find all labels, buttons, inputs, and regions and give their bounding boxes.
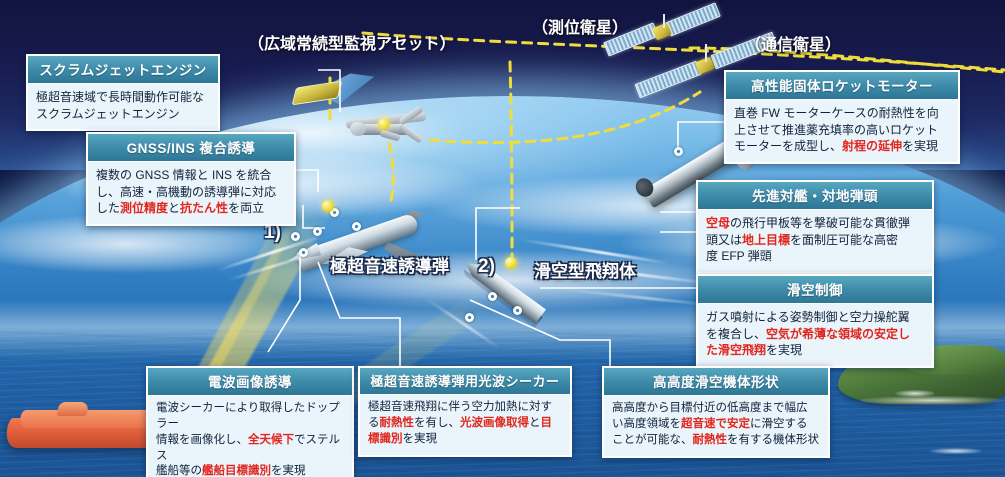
highlighted-text: 標識別	[368, 433, 403, 445]
body-text: 極超音速飛翔に伴う空力加熱に対す	[368, 401, 552, 413]
body-text: を両立	[228, 201, 264, 215]
connector-node	[513, 306, 522, 315]
highlighted-text: 抗たん性	[180, 201, 228, 215]
body-text: に滑空する	[750, 418, 808, 430]
connector-node	[291, 232, 300, 241]
card-body-line: 情報を画像化し、全天候下でステルス	[156, 433, 344, 465]
highlighted-text: 耐熱性	[693, 434, 728, 446]
body-text: の飛行甲板等を撃破可能な貫徹弾	[730, 216, 910, 230]
highlighted-text: 耐熱性	[380, 417, 415, 429]
body-text: 極超音速域で長時間動作可能な	[36, 90, 204, 104]
body-text: を有する機体形状	[727, 434, 819, 446]
body-text: 上させて推進薬充填率の高いロケット	[734, 123, 938, 137]
card-body-line: モーターを成型し、射程の延伸を実現	[734, 138, 950, 155]
card-body-line: 高高度から目標付近の低高度まで幅広	[612, 401, 820, 417]
card-body: 極超音速飛翔に伴う空力加熱に対する耐熱性を有し、光波画像取得と目標識別を実現	[360, 395, 570, 455]
card-body-line: ことが可能な、耐熱性を有する機体形状	[612, 433, 820, 449]
connector-node	[488, 292, 497, 301]
card-title: GNSS/INS 複合誘導	[88, 134, 294, 162]
card-body-line: 艦船等の艦船目標識別を実現	[156, 464, 344, 477]
highlighted-text: 地上目標	[742, 233, 790, 247]
label-nav-satellite: （測位衛星）	[532, 14, 628, 38]
island-surf	[860, 396, 1005, 405]
card-body: 空母の飛行甲板等を撃破可能な貫徹弾頭又は地上目標を面制圧可能な高密度 EFP 弾…	[698, 210, 932, 272]
card-body-line: した測位精度と抗たん性を両立	[96, 200, 286, 217]
highlighted-text: 空母	[706, 216, 730, 230]
body-text: を有し、	[414, 417, 460, 429]
connector-node	[674, 147, 683, 156]
body-text: と	[168, 201, 180, 215]
body-text: を実現	[403, 433, 438, 445]
card-body: 複数の GNSS 情報と INS を統合し、高速・高機動の誘導弾に対応した測位精…	[88, 162, 294, 224]
highlighted-text: 目	[541, 417, 553, 429]
body-text: モーターを成型し、	[734, 139, 842, 153]
callout-card-optical-seeker[interactable]: 極超音速誘導弾用光波シーカー 極超音速飛翔に伴う空力加熱に対する耐熱性を有し、光…	[358, 366, 572, 457]
highlighted-text: 全天候下	[248, 434, 294, 446]
callout-card-solid-rocket-motor[interactable]: 高性能固体ロケットモーター 直巻 FW モーターケースの耐熱性を向上させて推進薬…	[724, 70, 960, 164]
label-glide-vehicle: 滑空型飛翔体	[534, 257, 636, 282]
datalink-node	[378, 118, 390, 130]
card-body-line: 空母の飛行甲板等を撃破可能な貫徹弾	[706, 215, 924, 232]
highlighted-text: 空気が希薄な領域の安定し	[766, 327, 910, 341]
body-text: ことが可能な、	[612, 434, 693, 446]
card-body-line: 極超音速域で長時間動作可能な	[36, 89, 210, 106]
body-text: した	[96, 201, 120, 215]
object-number-2: 2)	[478, 256, 495, 278]
body-text: を実現	[271, 465, 306, 477]
callout-card-glide-control[interactable]: 滑空制御 ガス噴射による姿勢制御と空力操舵翼を複合し、空気が希薄な領域の安定した…	[696, 274, 934, 368]
datalink-node	[322, 200, 334, 212]
body-text: い高度領域を	[612, 418, 681, 430]
callout-card-scramjet-engine[interactable]: スクラムジェットエンジン 極超音速域で長時間動作可能なスクラムジェットエンジン	[26, 54, 220, 131]
connector-node	[352, 222, 361, 231]
card-body: 直巻 FW モーターケースの耐熱性を向上させて推進薬充填率の高いロケットモーター…	[726, 100, 958, 162]
body-text: ガス噴射による姿勢制御と空力操舵翼	[706, 310, 910, 324]
highlighted-text: 射程の延伸	[842, 139, 902, 153]
body-text: 情報を画像化し、	[156, 434, 248, 446]
highlighted-text: 超音速で安定	[681, 418, 750, 430]
card-title: 電波画像誘導	[148, 368, 352, 396]
body-text: 複数の GNSS 情報と INS を統合	[96, 168, 271, 182]
body-text: を複合し、	[706, 327, 766, 341]
connector-node	[299, 248, 308, 257]
body-text: し、高速・高機動の誘導弾に対応	[96, 185, 276, 199]
body-text: を面制圧可能な高密	[790, 233, 898, 247]
card-body-line: を複合し、空気が希薄な領域の安定し	[706, 326, 924, 343]
card-title: 滑空制御	[698, 276, 932, 304]
card-body-line: 頭又は地上目標を面制圧可能な高密	[706, 232, 924, 249]
body-text: る	[368, 417, 380, 429]
label-comm-satellite: （通信衛星）	[745, 31, 841, 55]
card-body-line: 度 EFP 弾頭	[706, 248, 924, 265]
body-text: 電波シーカーにより取得したドップラー	[156, 402, 340, 430]
label-hypersonic-missile: 極超音速誘導弾	[330, 252, 449, 277]
card-body-line: 上させて推進薬充填率の高いロケット	[734, 122, 950, 139]
highlighted-text: 光波画像取得	[460, 417, 529, 429]
body-text: を実現	[766, 343, 802, 357]
card-body-line: る耐熱性を有し、光波画像取得と目	[368, 416, 562, 432]
card-body: 電波シーカーにより取得したドップラー情報を画像化し、全天候下でステルス艦船等の艦…	[148, 396, 352, 477]
card-title: 極超音速誘導弾用光波シーカー	[360, 368, 570, 395]
callout-card-high-altitude-airframe[interactable]: 高高度滑空機体形状 高高度から目標付近の低高度まで幅広い高度領域を超音速で安定に…	[602, 366, 830, 458]
card-body: ガス噴射による姿勢制御と空力操舵翼を複合し、空気が希薄な領域の安定した滑空飛翔を…	[698, 304, 932, 366]
card-body-line: し、高速・高機動の誘導弾に対応	[96, 184, 286, 201]
highlighted-text: た滑空飛翔	[706, 343, 766, 357]
card-body: 高高度から目標付近の低高度まで幅広い高度領域を超音速で安定に滑空することが可能な…	[604, 396, 828, 456]
label-isr-asset: （広域常続型監視アセット）	[248, 30, 456, 54]
card-title: 高高度滑空機体形状	[604, 368, 828, 396]
datalink-node	[505, 257, 517, 269]
sea-wake	[895, 390, 935, 397]
card-body-line: 複数の GNSS 情報と INS を統合	[96, 167, 286, 184]
card-body-line: 電波シーカーにより取得したドップラー	[156, 401, 344, 433]
callout-card-advanced-warhead[interactable]: 先進対艦・対地弾頭 空母の飛行甲板等を撃破可能な貫徹弾頭又は地上目標を面制圧可能…	[696, 180, 934, 274]
body-text: 度 EFP 弾頭	[706, 249, 772, 263]
card-body-line: ガス噴射による姿勢制御と空力操舵翼	[706, 309, 924, 326]
body-text: スクラムジェットエンジン	[36, 107, 180, 121]
body-text: を実現	[902, 139, 938, 153]
highlighted-text: 測位精度	[120, 201, 168, 215]
body-text: と	[529, 417, 541, 429]
body-text: 艦船等の	[156, 465, 202, 477]
infographic-canvas: （広域常続型監視アセット） （測位衛星） （通信衛星） 1) 極超音速誘導弾 2…	[0, 0, 1005, 477]
sea-wake	[930, 448, 982, 454]
body-text: 頭又は	[706, 233, 742, 247]
card-body: 極超音速域で長時間動作可能なスクラムジェットエンジン	[28, 84, 218, 129]
card-body-line: 極超音速飛翔に伴う空力加熱に対す	[368, 400, 562, 416]
body-text: 高高度から目標付近の低高度まで幅広	[612, 402, 808, 414]
card-title: 先進対艦・対地弾頭	[698, 182, 932, 210]
highlighted-text: 艦船目標識別	[202, 465, 271, 477]
connector-node	[313, 227, 322, 236]
card-body-line: 標識別を実現	[368, 432, 562, 448]
connector-node	[465, 313, 474, 322]
callout-card-rf-imaging-guidance[interactable]: 電波画像誘導 電波シーカーにより取得したドップラー情報を画像化し、全天候下でステ…	[146, 366, 354, 477]
body-text: 直巻 FW モーターケースの耐熱性を向	[734, 106, 939, 120]
card-title: 高性能固体ロケットモーター	[726, 72, 958, 100]
uav-drone-icon	[340, 108, 430, 152]
card-body-line: た滑空飛翔を実現	[706, 342, 924, 359]
card-body-line: 直巻 FW モーターケースの耐熱性を向	[734, 105, 950, 122]
card-title: スクラムジェットエンジン	[28, 56, 218, 84]
callout-card-gnss-ins-guidance[interactable]: GNSS/INS 複合誘導 複数の GNSS 情報と INS を統合し、高速・高…	[86, 132, 296, 226]
card-body-line: い高度領域を超音速で安定に滑空する	[612, 417, 820, 433]
card-body-line: スクラムジェットエンジン	[36, 106, 210, 123]
